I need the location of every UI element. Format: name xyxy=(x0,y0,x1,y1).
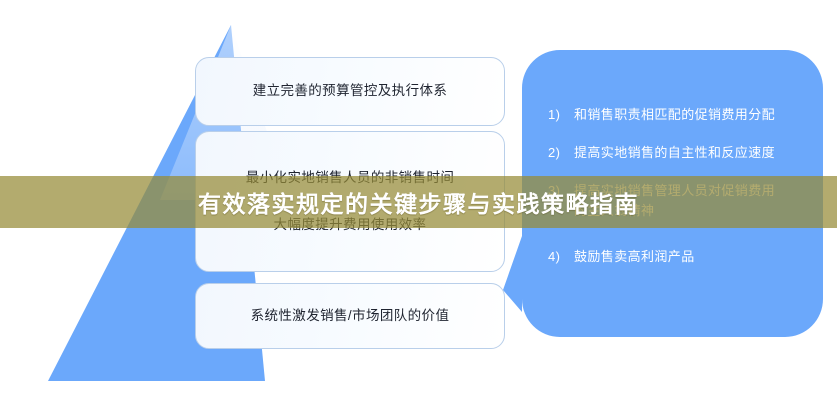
callout-item-3-text: 提高实地销售管理人员对促销费用 的主人翁精神 xyxy=(574,181,813,221)
callout-item-2-number: 2) xyxy=(548,143,574,163)
callout-item-1: 1) 和销售职责相匹配的促销费用分配 xyxy=(548,105,813,125)
pyramid-step-4-label: 系统性激发销售/市场团队的价值 xyxy=(251,306,450,326)
callout-item-4-number: 4) xyxy=(548,247,574,267)
callout-item-3: 3) 提高实地销售管理人员对促销费用 的主人翁精神 xyxy=(548,181,813,221)
pyramid-step-box-3: 系统性激发销售/市场团队的价值 xyxy=(195,283,505,349)
pyramid-step-box-2: 最小化实地销售人员的非销售时间 大幅度提升费用使用效率 xyxy=(195,131,505,272)
callout-item-1-number: 1) xyxy=(548,105,574,125)
callout-panel: 1) 和销售职责相匹配的促销费用分配 2) 提高实地销售的自主性和反应速度 3)… xyxy=(503,50,823,337)
callout-item-2-text: 提高实地销售的自主性和反应速度 xyxy=(574,143,813,163)
pyramid-step-1-label: 建立完善的预算管控及执行体系 xyxy=(253,81,448,101)
pyramid-step-2-label: 最小化实地销售人员的非销售时间 xyxy=(246,168,455,188)
callout-item-3-number: 3) xyxy=(548,181,574,201)
callout-item-1-text: 和销售职责相匹配的促销费用分配 xyxy=(574,105,813,125)
callout-item-4-text: 鼓励售卖高利润产品 xyxy=(574,247,813,267)
pyramid-step-3-label: 大幅度提升费用使用效率 xyxy=(274,215,427,235)
pyramid-step-box-1: 建立完善的预算管控及执行体系 xyxy=(195,57,505,126)
slide-canvas: 1) 和销售职责相匹配的促销费用分配 2) 提高实地销售的自主性和反应速度 3)… xyxy=(0,0,837,400)
callout-item-4: 4) 鼓励售卖高利润产品 xyxy=(548,247,813,267)
callout-item-2: 2) 提高实地销售的自主性和反应速度 xyxy=(548,143,813,163)
callout-item-list: 1) 和销售职责相匹配的促销费用分配 2) 提高实地销售的自主性和反应速度 3)… xyxy=(522,50,823,337)
